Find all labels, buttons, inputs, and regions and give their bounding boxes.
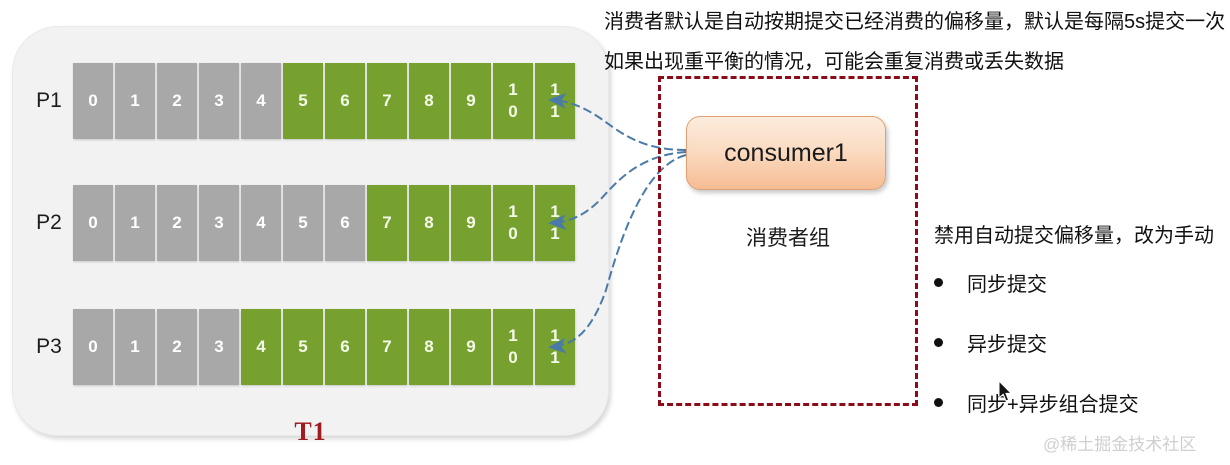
offset-cell-label: 1 [130,336,139,357]
offset-cell: 10 [493,185,533,261]
consumer-node[interactable]: consumer1 [686,116,886,190]
offset-cell-label: 5 [298,212,307,233]
note-line-2: 如果出现重平衡的情况，可能会重复消费或丢失数据 [604,45,1064,74]
diagram-canvas: P101234567891011P201234567891011P3012345… [0,0,1230,465]
offset-cell-label: 3 [214,336,223,357]
offset-cell: 9 [451,185,491,261]
offset-cell-label: 8 [424,336,433,357]
bullet-dot-icon [934,338,943,347]
offset-cell-label: 5 [298,90,307,111]
partition-label: P2 [27,185,71,261]
offset-cell: 7 [367,309,407,385]
offset-cell-label: 6 [340,336,349,357]
offset-cell: 11 [535,185,575,261]
topic-name-label: T1 [13,417,608,447]
partition-offsets: 01234567891011 [73,309,577,385]
offset-cell: 8 [409,185,449,261]
offset-cell-label: 3 [214,212,223,233]
offset-cell: 8 [409,309,449,385]
offset-cell-label: 9 [466,90,475,111]
offset-cell: 4 [241,185,281,261]
offset-cell: 5 [283,63,323,139]
offset-cell: 5 [283,185,323,261]
offset-cell: 1 [115,309,155,385]
offset-cell: 3 [199,185,239,261]
offset-cell-label: 1 [130,90,139,111]
note-line-1: 消费者默认是自动按期提交已经消费的偏移量，默认是每隔5s提交一次 [604,5,1225,34]
bullet-dot-icon [934,278,943,287]
offset-cell-label: 6 [340,90,349,111]
offset-cell: 4 [241,63,281,139]
offset-cell: 11 [535,309,575,385]
offset-cell: 4 [241,309,281,385]
offset-cell-label: 2 [172,90,181,111]
manual-commit-title: 禁用自动提交偏移量，改为手动 [934,219,1214,248]
offset-cell: 0 [73,185,113,261]
offset-cell-label: 2 [172,212,181,233]
manual-commit-item-0: 同步提交 [934,268,1047,297]
offset-cell-label: 9 [466,212,475,233]
offset-cell-label: 4 [256,336,265,357]
offset-cell-label: 2 [172,336,181,357]
manual-commit-item-2: 同步+异步组合提交 [934,388,1139,417]
partition-label: P1 [27,63,71,139]
offset-cell: 8 [409,63,449,139]
offset-cell-label: 0 [88,212,97,233]
offset-cell-label: 0 [88,336,97,357]
topic-container: P101234567891011P201234567891011P3012345… [12,26,609,436]
bullet-dot-icon [934,398,943,407]
offset-cell-label: 4 [256,90,265,111]
offset-cell: 3 [199,309,239,385]
consumer-group-label: 消费者组 [658,222,918,252]
offset-cell-label: 5 [298,336,307,357]
offset-cell: 9 [451,63,491,139]
offset-cell: 2 [157,185,197,261]
offset-cell: 5 [283,309,323,385]
offset-cell: 2 [157,309,197,385]
offset-cell: 6 [325,63,365,139]
offset-cell: 3 [199,63,239,139]
manual-commit-item-1: 异步提交 [934,328,1047,357]
offset-cell-label: 8 [424,212,433,233]
watermark: @稀土掘金技术社区 [1043,430,1196,455]
offset-cell: 10 [493,309,533,385]
offset-cell: 0 [73,309,113,385]
offset-cell-label: 9 [466,336,475,357]
offset-cell: 1 [115,185,155,261]
offset-cell-label: 6 [340,212,349,233]
partition-offsets: 01234567891011 [73,185,577,261]
offset-cell-label: 1 [130,212,139,233]
partition-label: P3 [27,309,71,385]
offset-cell: 0 [73,63,113,139]
offset-cell-label: 0 [88,90,97,111]
offset-cell-label: 8 [424,90,433,111]
partition-offsets: 01234567891011 [73,63,577,139]
offset-cell-label: 7 [382,336,391,357]
offset-cell-label: 7 [382,212,391,233]
offset-cell: 2 [157,63,197,139]
offset-cell-label: 4 [256,212,265,233]
offset-cell-label: 7 [382,90,391,111]
offset-cell: 10 [493,63,533,139]
offset-cell: 6 [325,185,365,261]
manual-commit-item-label: 同步+异步组合提交 [967,388,1139,417]
offset-cell-label: 3 [214,90,223,111]
mouse-cursor-icon [998,380,1014,404]
manual-commit-item-label: 异步提交 [967,328,1047,357]
offset-cell: 7 [367,185,407,261]
offset-cell: 6 [325,309,365,385]
offset-cell: 1 [115,63,155,139]
manual-commit-item-label: 同步提交 [967,268,1047,297]
offset-cell: 7 [367,63,407,139]
offset-cell: 9 [451,309,491,385]
offset-cell: 11 [535,63,575,139]
consumer-node-label: consumer1 [724,139,848,168]
